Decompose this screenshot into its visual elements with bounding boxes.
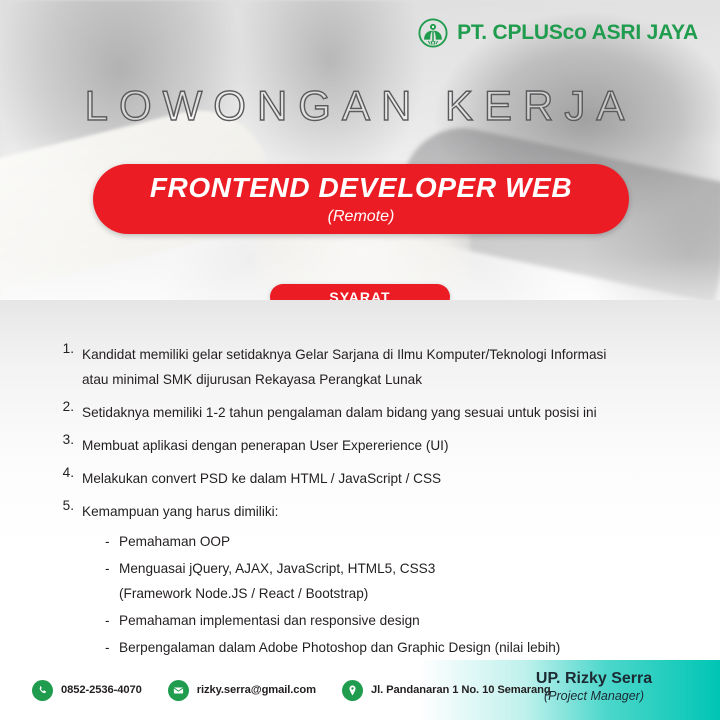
requirement-subitem-text: Berpengalaman dalam Adobe Photoshop dan … xyxy=(119,635,678,660)
contact-item[interactable]: rizky.serra@gmail.com xyxy=(168,680,316,701)
requirement-item: 4.Melakukan convert PSD ke dalam HTML / … xyxy=(58,466,678,491)
contact-text: rizky.serra@gmail.com xyxy=(197,684,316,696)
contact-item[interactable]: 0852-2536-4070 xyxy=(32,680,142,701)
requirement-number: 2. xyxy=(58,400,82,425)
requirement-subitem-text: Pemahaman implementasi dan responsive de… xyxy=(119,608,678,633)
requirement-line: Setidaknya memiliki 1-2 tahun pengalaman… xyxy=(82,400,678,425)
location-icon xyxy=(342,680,363,701)
requirement-subitem-line: Berpengalaman dalam Adobe Photoshop dan … xyxy=(119,635,678,660)
requirement-line: Kandidat memiliki gelar setidaknya Gelar… xyxy=(82,342,678,367)
phone-icon xyxy=(32,680,53,701)
requirement-number: 1. xyxy=(58,342,82,392)
requirement-text: Melakukan convert PSD ke dalam HTML / Ja… xyxy=(82,466,678,491)
footer-bar: 0852-2536-4070rizky.serra@gmail.comJl. P… xyxy=(0,660,720,720)
requirement-line: Kemampuan yang harus dimiliki: xyxy=(82,499,678,524)
requirement-number: 4. xyxy=(58,466,82,491)
requirement-subitem: -Pemahaman implementasi dan responsive d… xyxy=(82,608,678,633)
signature-role: (Project Manager) xyxy=(494,690,694,704)
requirement-line: atau minimal SMK dijurusan Rekayasa Pera… xyxy=(82,367,678,392)
page-title: LOWONGAN KERJA xyxy=(0,82,720,130)
company-name: PT. CPLUSco ASRI JAYA xyxy=(457,21,698,45)
requirement-number: 5. xyxy=(58,499,82,662)
requirement-subitem-text: Pemahaman OOP xyxy=(119,529,678,554)
requirement-text: Membuat aplikasi dengan penerapan User E… xyxy=(82,433,678,458)
requirement-number: 3. xyxy=(58,433,82,458)
requirement-item: 5.Kemampuan yang harus dimiliki:-Pemaham… xyxy=(58,499,678,662)
requirement-item: 3.Membuat aplikasi dengan penerapan User… xyxy=(58,433,678,458)
requirement-text: Kemampuan yang harus dimiliki:-Pemahaman… xyxy=(82,499,678,662)
requirement-subitem-dash: - xyxy=(105,635,119,660)
email-icon xyxy=(168,680,189,701)
requirement-subitem-line: Pemahaman OOP xyxy=(119,529,678,554)
requirement-subitem-dash: - xyxy=(105,608,119,633)
requirement-line: Membuat aplikasi dengan penerapan User E… xyxy=(82,433,678,458)
requirement-sublist: -Pemahaman OOP-Menguasai jQuery, AJAX, J… xyxy=(82,529,678,660)
signature-name: UP. Rizky Serra xyxy=(494,670,694,688)
requirement-subitem-line: (Framework Node.JS / React / Bootstrap) xyxy=(119,581,678,606)
requirement-subitem-dash: - xyxy=(105,529,119,554)
requirement-item: 2.Setidaknya memiliki 1-2 tahun pengalam… xyxy=(58,400,678,425)
job-title-text: FRONTEND DEVELOPER WEB xyxy=(150,174,572,202)
job-title-banner: FRONTEND DEVELOPER WEB (Remote) xyxy=(93,164,629,234)
requirements-list: 1.Kandidat memiliki gelar setidaknya Gel… xyxy=(58,342,678,703)
company-logo: PT. CPLUSco ASRI JAYA xyxy=(418,18,698,48)
requirement-subitem: -Berpengalaman dalam Adobe Photoshop dan… xyxy=(82,635,678,660)
requirement-subitem: -Menguasai jQuery, AJAX, JavaScript, HTM… xyxy=(82,556,678,606)
requirement-subitem-line: Pemahaman implementasi dan responsive de… xyxy=(119,608,678,633)
requirement-text: Kandidat memiliki gelar setidaknya Gelar… xyxy=(82,342,678,392)
job-vacancy-poster: PT. CPLUSco ASRI JAYA LOWONGAN KERJA FRO… xyxy=(0,0,720,720)
signature-block: UP. Rizky Serra (Project Manager) xyxy=(494,670,694,703)
tree-emblem-icon xyxy=(418,18,448,48)
job-subtitle-text: (Remote) xyxy=(328,209,395,225)
requirement-subitem-dash: - xyxy=(105,556,119,606)
requirement-item: 1.Kandidat memiliki gelar setidaknya Gel… xyxy=(58,342,678,392)
requirement-subitem-line: Menguasai jQuery, AJAX, JavaScript, HTML… xyxy=(119,556,678,581)
contact-text: 0852-2536-4070 xyxy=(61,684,142,696)
requirement-line: Melakukan convert PSD ke dalam HTML / Ja… xyxy=(82,466,678,491)
requirement-text: Setidaknya memiliki 1-2 tahun pengalaman… xyxy=(82,400,678,425)
requirement-subitem: -Pemahaman OOP xyxy=(82,529,678,554)
requirement-subitem-text: Menguasai jQuery, AJAX, JavaScript, HTML… xyxy=(119,556,678,606)
